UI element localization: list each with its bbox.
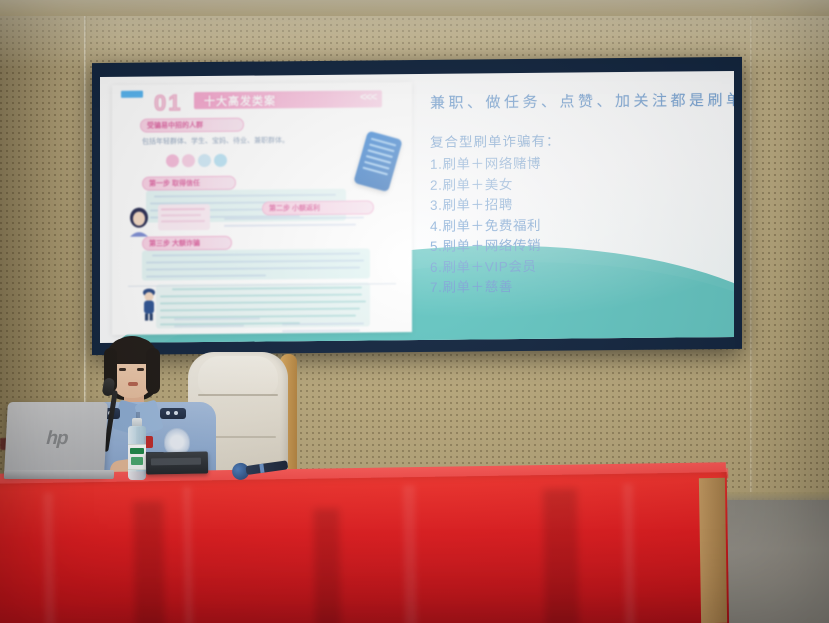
laptop-lid: hp [4, 402, 108, 474]
slide-right-text: 兼职、做任务、点赞、加关注都是刷单 复合型刷单诈骗有： 1.刷单＋网络赌博 2.… [430, 89, 726, 298]
bottle-label [128, 444, 146, 470]
ceiling-edge [0, 0, 829, 16]
slide-footnote-2 [282, 322, 368, 323]
screenshot-root: 01 十大高发类案 <<< 受骗易中招的人群 包括年轻群体、学生、宝妈、待业、兼… [0, 0, 829, 623]
tablecloth [0, 472, 729, 623]
hair-side-right [146, 348, 160, 394]
list-item: 3.刷单＋招聘 [430, 193, 726, 216]
slide-footnote [174, 317, 266, 318]
desk-nameplate [146, 451, 208, 474]
slide-surface: 01 十大高发类案 <<< 受骗易中招的人群 包括年轻群体、学生、宝妈、待业、兼… [100, 71, 734, 343]
slide-step2-body [224, 216, 370, 217]
wall-seam-right [750, 0, 753, 520]
slide-step3-label: 第三步 大额诈骗 [142, 236, 232, 251]
epaulette-right [160, 408, 186, 419]
hp-laptop: hp [6, 402, 114, 480]
water-bottle [128, 418, 146, 480]
table-side-panel [699, 478, 727, 623]
slide-left-card: 01 十大高发类案 <<< 受骗易中招的人群 包括年轻群体、学生、宝妈、待业、兼… [112, 82, 412, 335]
slide-section-number: 01 [154, 90, 182, 116]
list-item: 1.刷单＋网络赌博 [430, 152, 726, 175]
slide-section-banner: 十大高发类案 [194, 90, 382, 109]
slide-step2-label: 第二步 小额返利 [262, 200, 374, 215]
microphone-body [245, 460, 288, 475]
slide-subsection-label: 受骗易中招的人群 [140, 118, 244, 133]
mouth [128, 382, 138, 386]
slide-banner-chevrons: <<< [360, 91, 376, 103]
slide-headline: 兼职、做任务、点赞、加关注都是刷单 [430, 89, 726, 113]
slide-step3-body [142, 248, 370, 280]
slide-avatar-panel [158, 204, 210, 230]
slide-subsection-text: 包括年轻群体、学生、宝妈、待业、兼职群体。 [142, 135, 289, 146]
slide-phone-illustration [353, 131, 402, 193]
laptop-base [4, 470, 114, 479]
nameplate-strip [151, 458, 201, 466]
slide-item-list: 1.刷单＋网络赌博 2.刷单＋美女 3.刷单＋招聘 4.刷单＋免费福利 5.刷单… [430, 152, 726, 298]
slide-detail-body [156, 282, 370, 328]
slide-step1-label: 第一步 取得信任 [142, 176, 236, 191]
list-item: 4.刷单＋免费福利 [430, 214, 726, 237]
slide-step-dots [166, 154, 227, 168]
slide-avatar-illustration [126, 207, 152, 237]
list-item: 7.刷单＋慈善 [430, 275, 726, 298]
slide-subtitle: 复合型刷单诈骗有： [430, 128, 726, 151]
slide-police-mascot-icon [140, 286, 158, 320]
slide-section-banner-title: 十大高发类案 [204, 92, 276, 109]
list-item: 2.刷单＋美女 [430, 173, 726, 196]
projection-screen: 01 十大高发类案 <<< 受骗易中招的人群 包括年轻群体、学生、宝妈、待业、兼… [92, 57, 742, 355]
card-corner-tag [121, 91, 143, 98]
hp-logo: hp [43, 428, 70, 450]
list-item: 5.刷单＋网络传销 [430, 234, 726, 257]
list-item: 6.刷单＋VIP会员 [430, 255, 726, 278]
